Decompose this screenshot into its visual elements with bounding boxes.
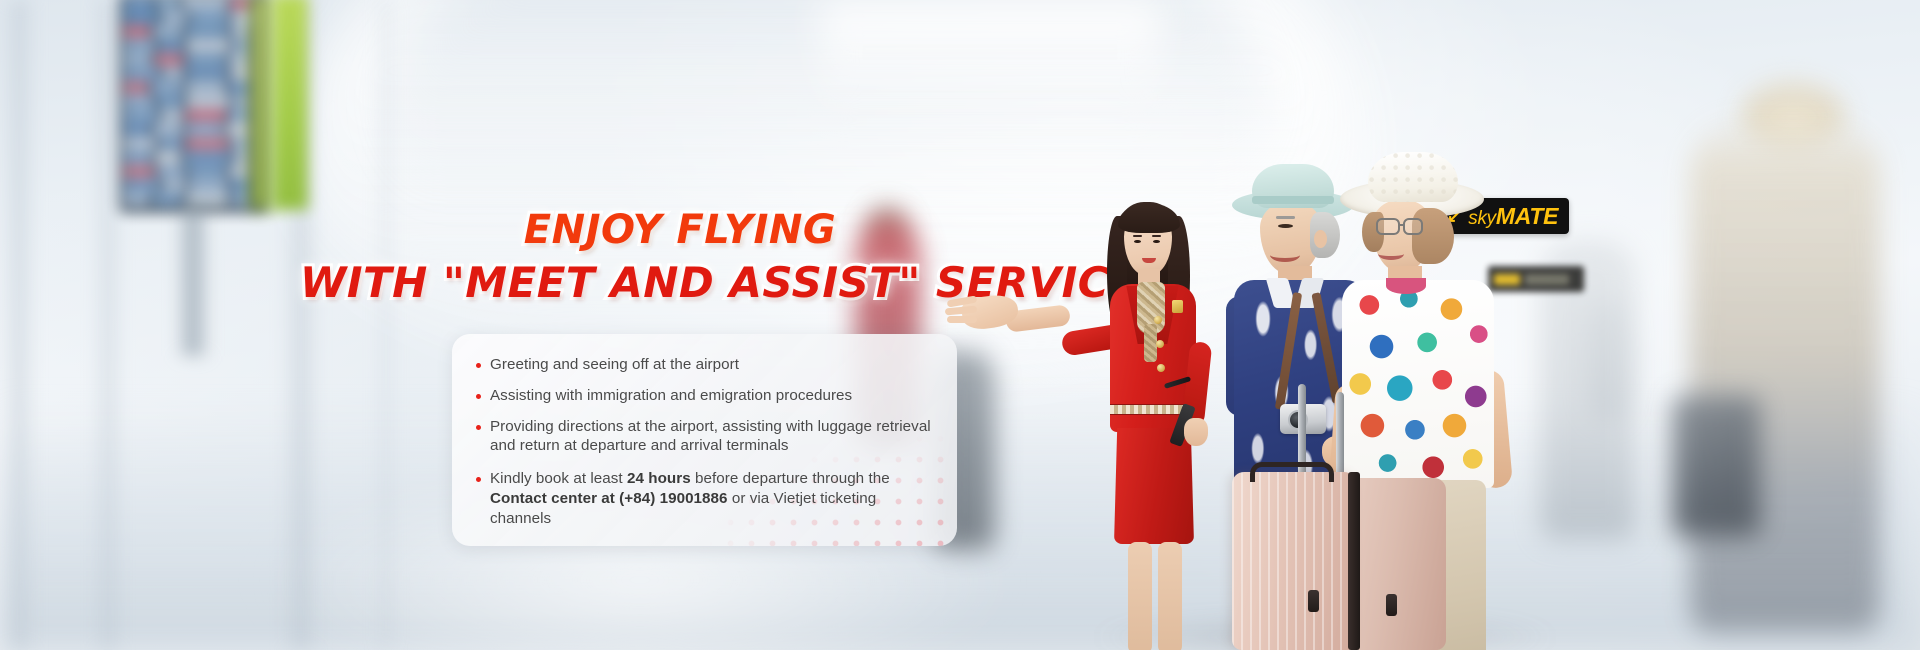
flight-information-display bbox=[120, 0, 268, 212]
service-info-panel: Greeting and seeing off at the airportAs… bbox=[452, 334, 957, 546]
skymate-text-light: sky bbox=[1468, 208, 1496, 229]
fids-cell bbox=[155, 152, 181, 163]
fids-cell bbox=[153, 194, 183, 205]
fids-stand bbox=[176, 206, 210, 356]
fids-cell bbox=[157, 96, 183, 107]
headline: ENJOY FLYING WITH "MEET AND ASSIST" SERV… bbox=[300, 210, 1060, 304]
bullet-text-emphasis: 24 hours bbox=[627, 470, 691, 487]
sign-glyph bbox=[1494, 274, 1520, 285]
fids-cell bbox=[153, 26, 183, 37]
headline-line-2: WITH "MEET AND ASSIST" SERVICE bbox=[300, 262, 1060, 304]
fids-cell bbox=[190, 12, 228, 23]
fids-row bbox=[124, 180, 264, 191]
fids-cell bbox=[157, 0, 179, 9]
fids-cell bbox=[163, 68, 183, 79]
fids-row bbox=[124, 124, 264, 135]
fids-cell bbox=[124, 138, 156, 149]
fids-cell bbox=[231, 138, 251, 149]
fids-cell bbox=[186, 26, 228, 37]
fids-cell bbox=[231, 0, 251, 9]
fids-cell bbox=[161, 110, 183, 121]
fids-cell bbox=[186, 82, 226, 93]
sign-glyph bbox=[1525, 274, 1569, 285]
fids-cell bbox=[157, 166, 185, 177]
service-bullet-text: Providing directions at the airport, ass… bbox=[490, 417, 935, 457]
fids-cell bbox=[124, 82, 148, 93]
fids-cell bbox=[188, 166, 226, 177]
fids-cell bbox=[124, 26, 150, 37]
fids-cell bbox=[124, 68, 160, 79]
fids-cell bbox=[186, 40, 230, 51]
fids-cell bbox=[233, 40, 251, 51]
fids-row bbox=[124, 0, 264, 9]
fids-cell bbox=[124, 40, 156, 51]
service-bullet-immigration: Assisting with immigration and emigratio… bbox=[476, 386, 935, 406]
service-bullet-text: Kindly book at least 24 hours before dep… bbox=[490, 469, 935, 528]
service-bullet-text: Assisting with immigration and emigratio… bbox=[490, 386, 852, 406]
fids-row bbox=[124, 166, 264, 177]
fids-cell bbox=[231, 194, 251, 205]
bullet-text-segment: Kindly book at least bbox=[490, 470, 627, 487]
service-bullet-list: Greeting and seeing off at the airportAs… bbox=[452, 334, 957, 546]
fids-cell bbox=[184, 152, 230, 163]
fids-cell bbox=[124, 54, 152, 65]
bullet-text-segment: Assisting with immigration and emigratio… bbox=[490, 387, 852, 404]
fids-cell bbox=[124, 110, 158, 121]
fids-cell bbox=[161, 12, 187, 23]
fids-cell bbox=[186, 194, 228, 205]
bullet-text-emphasis: Contact center at (+84) 19001886 bbox=[490, 490, 728, 507]
fids-row bbox=[124, 26, 264, 37]
service-bullet-greeting: Greeting and seeing off at the airport bbox=[476, 355, 935, 375]
fids-row bbox=[124, 68, 264, 79]
fids-cell bbox=[233, 96, 251, 107]
fids-row bbox=[124, 12, 264, 23]
terminal-green-panel bbox=[272, 0, 308, 210]
fids-cell bbox=[229, 82, 251, 93]
fids-cell bbox=[182, 0, 228, 9]
fids-cell bbox=[124, 194, 150, 205]
skymate-text-bold: MATE bbox=[1496, 203, 1558, 229]
fids-cell bbox=[229, 110, 251, 121]
fids-cell bbox=[159, 40, 183, 51]
fids-cell bbox=[229, 166, 251, 177]
bullet-dot-icon bbox=[476, 394, 481, 399]
fids-rows bbox=[124, 0, 264, 208]
fids-cell bbox=[186, 68, 228, 79]
fids-cell bbox=[186, 54, 226, 65]
skymate-sign: ↙ skyMATE bbox=[1437, 198, 1569, 234]
secondary-sign bbox=[1488, 266, 1584, 292]
background-bag bbox=[1672, 396, 1760, 536]
fids-cell bbox=[124, 0, 154, 9]
fids-cell bbox=[159, 138, 183, 149]
bullet-text-segment: before departure through the bbox=[691, 470, 890, 487]
fids-cell bbox=[124, 124, 150, 135]
fids-cell bbox=[186, 96, 230, 107]
bullet-text-segment: Greeting and seeing off at the airport bbox=[490, 356, 739, 373]
fids-cell bbox=[231, 68, 251, 79]
window-mullion bbox=[6, 0, 32, 650]
fids-cell bbox=[151, 82, 183, 93]
service-bullet-directions: Providing directions at the airport, ass… bbox=[476, 417, 935, 457]
window-mullion bbox=[98, 0, 118, 650]
bullet-dot-icon bbox=[476, 363, 481, 368]
fids-cell bbox=[124, 180, 160, 191]
fids-cell bbox=[155, 54, 183, 65]
skymate-sign-text: skyMATE bbox=[1468, 203, 1558, 230]
window-mullion bbox=[378, 0, 394, 650]
fids-row bbox=[124, 54, 264, 65]
terminal-green-panel bbox=[250, 0, 272, 210]
headline-line-1: ENJOY FLYING bbox=[300, 210, 1060, 250]
fids-cell bbox=[124, 166, 154, 177]
fids-row bbox=[124, 138, 264, 149]
fids-row bbox=[124, 152, 264, 163]
fids-cell bbox=[124, 96, 154, 107]
fids-cell bbox=[186, 138, 228, 149]
fids-cell bbox=[188, 180, 228, 191]
fids-row bbox=[124, 96, 264, 107]
fids-row bbox=[124, 82, 264, 93]
fids-cell bbox=[233, 152, 251, 163]
bullet-text-segment: Providing directions at the airport, ass… bbox=[490, 418, 931, 455]
fids-cell bbox=[163, 180, 185, 191]
fids-row bbox=[124, 194, 264, 205]
fids-cell bbox=[153, 124, 183, 135]
fids-row bbox=[124, 40, 264, 51]
bullet-dot-icon bbox=[476, 477, 481, 482]
fids-cell bbox=[227, 124, 251, 135]
service-bullet-text: Greeting and seeing off at the airport bbox=[490, 355, 739, 375]
ceiling-light-strip bbox=[820, 0, 1160, 120]
fids-cell bbox=[186, 124, 224, 135]
fids-row bbox=[124, 110, 264, 121]
background-person bbox=[1690, 112, 1880, 632]
fids-cell bbox=[229, 54, 251, 65]
arrow-down-left-icon: ↙ bbox=[1447, 208, 1461, 225]
fids-cell bbox=[231, 180, 251, 191]
fids-cell bbox=[231, 26, 251, 37]
bullet-dot-icon bbox=[476, 425, 481, 430]
fids-cell bbox=[186, 110, 226, 121]
fids-cell bbox=[124, 12, 158, 23]
service-bullet-booking: Kindly book at least 24 hours before dep… bbox=[476, 469, 935, 528]
meet-and-assist-banner: ↙ skyMATE ENJOY FLYING WITH "MEET AND AS… bbox=[0, 0, 1920, 650]
fids-cell bbox=[124, 152, 152, 163]
